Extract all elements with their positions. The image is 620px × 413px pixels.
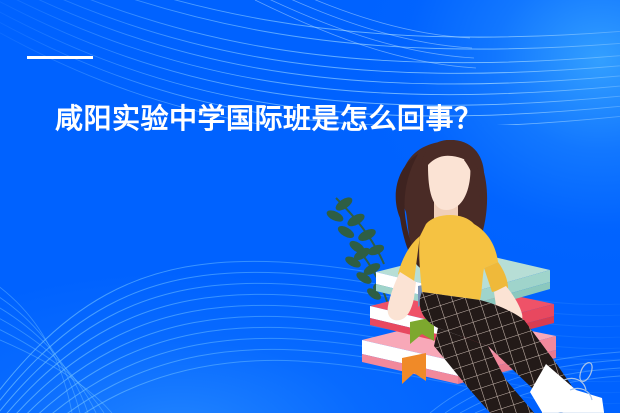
- page-title: 咸阳实验中学国际班是怎么回事？: [55, 104, 483, 135]
- bookmark-orange: [402, 353, 426, 384]
- promo-banner: 咸阳实验中学国际班是怎么回事？: [0, 0, 620, 413]
- accent-rule: [27, 56, 93, 59]
- hero-illustration: [318, 140, 620, 413]
